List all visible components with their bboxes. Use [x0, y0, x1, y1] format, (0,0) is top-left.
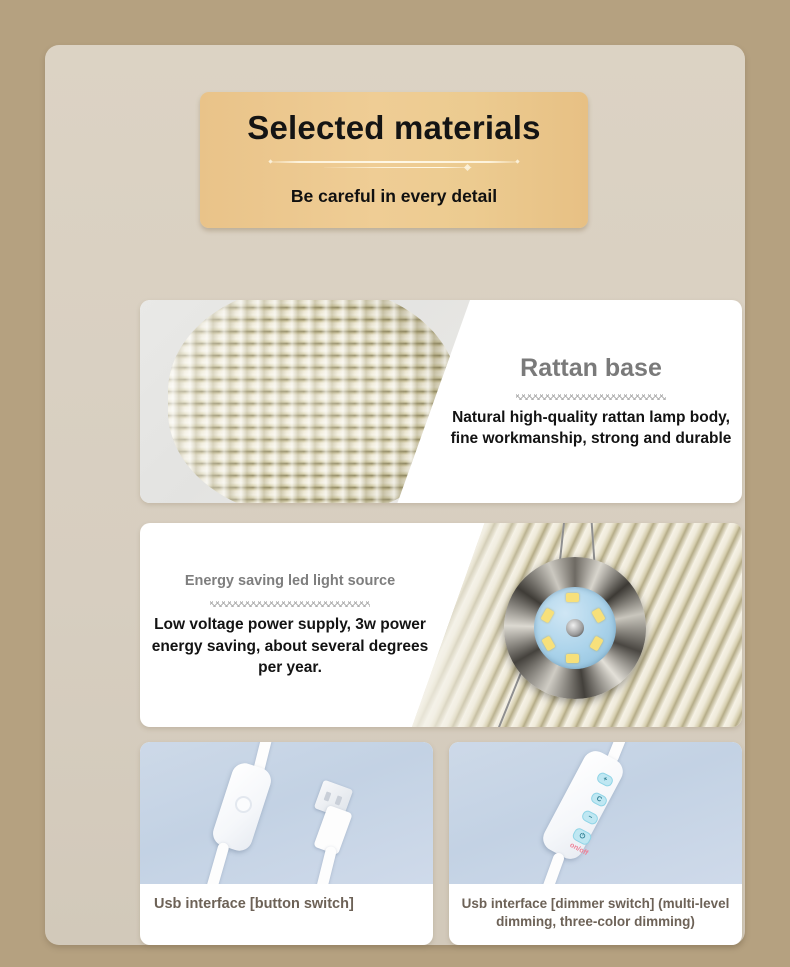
led-pcb	[534, 587, 616, 669]
card-caption-wrap: Usb interface [button switch]	[140, 884, 433, 945]
led-module-inside-rattan-photo	[412, 523, 742, 727]
feature-body: Low voltage power supply, 3w power energ…	[148, 614, 432, 678]
feature-body: Natural high-quality rattan lamp body, f…	[446, 407, 736, 450]
feature-heading: Energy saving led light source	[185, 572, 395, 591]
feature-text-rattan: Rattan base Natural high-quality rattan …	[440, 300, 742, 503]
rattan-woven-lampshade-photo	[140, 300, 470, 503]
ornament-divider-icon	[269, 157, 519, 173]
usb-cable-button-switch-photo	[140, 742, 433, 884]
feature-heading: Rattan base	[520, 354, 662, 383]
card-caption-wrap: Usb interface [dimmer switch] (multi-lev…	[449, 884, 742, 945]
wavy-divider-icon	[210, 598, 370, 607]
feature-card-rattan: Rattan base Natural high-quality rattan …	[140, 300, 742, 503]
section-header-banner: Selected materials Be careful in every d…	[200, 92, 588, 228]
card-caption: Usb interface [dimmer switch] (multi-lev…	[459, 895, 732, 931]
wavy-divider-icon	[516, 391, 666, 400]
card-caption: Usb interface [button switch]	[154, 895, 354, 915]
product-detail-panel: Selected materials Be careful in every d…	[45, 45, 745, 945]
feature-card-usb-dimmer-switch: + C − ⏻ on/off Usb interface [dimmer swi…	[449, 742, 742, 945]
feature-card-led: Energy saving led light source Low volta…	[140, 523, 742, 727]
page-subtitle: Be careful in every detail	[291, 186, 497, 207]
chrome-reflector	[504, 557, 646, 699]
page-title: Selected materials	[247, 109, 540, 147]
feature-text-led: Energy saving led light source Low volta…	[140, 523, 440, 727]
feature-card-usb-button-switch: Usb interface [button switch]	[140, 742, 433, 945]
usb-cable-dimmer-switch-photo: + C − ⏻ on/off	[449, 742, 742, 884]
